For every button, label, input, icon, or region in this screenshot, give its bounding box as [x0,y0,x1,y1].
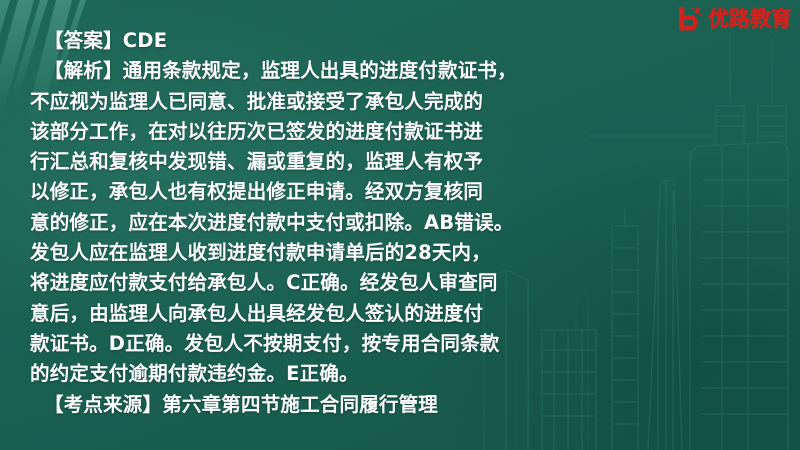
text-line: 【答案】CDE [30,26,790,56]
text-line: 该部分工作，在对以往历次已签发的进度付款证书进 [30,117,790,147]
text-line: 的约定支付逾期付款违约金。E正确。 [30,359,790,389]
text-line: 【解析】通用条款规定，监理人出具的进度付款证书， [30,56,790,86]
text-line: 款证书。D正确。发包人不按期支付，按专用合同条款 [30,329,790,359]
slide-text-block: 【答案】CDE 【解析】通用条款规定，监理人出具的进度付款证书， 不应视为监理人… [0,0,800,450]
text-line: 【考点来源】第六章第四节施工合同履行管理 [30,390,790,420]
text-line: 行汇总和复核中发现错、漏或重复的，监理人有权予 [30,147,790,177]
text-line: 发包人应在监理人收到进度付款申请单后的28天内， [30,238,790,268]
text-line: 意的修正，应在本次进度付款中支付或扣除。AB错误。 [30,208,790,238]
text-line: 不应视为监理人已同意、批准或接受了承包人完成的 [30,87,790,117]
text-line: 以修正，承包人也有权提出修正申请。经双方复核同 [30,177,790,207]
brand-logo: 优路教育 [677,6,792,32]
brand-logo-text: 优路教育 [708,9,792,30]
text-line: 将进度应付款支付给承包人。C正确。经发包人审查同 [30,268,790,298]
slide-root: 优路教育 【答案】CDE 【解析】通用条款规定，监理人出具的进度付款证书， 不应… [0,0,800,450]
text-line: 意后，由监理人向承包人出具经发包人签认的进度付 [30,299,790,329]
youlu-logo-mark-icon [677,6,704,32]
